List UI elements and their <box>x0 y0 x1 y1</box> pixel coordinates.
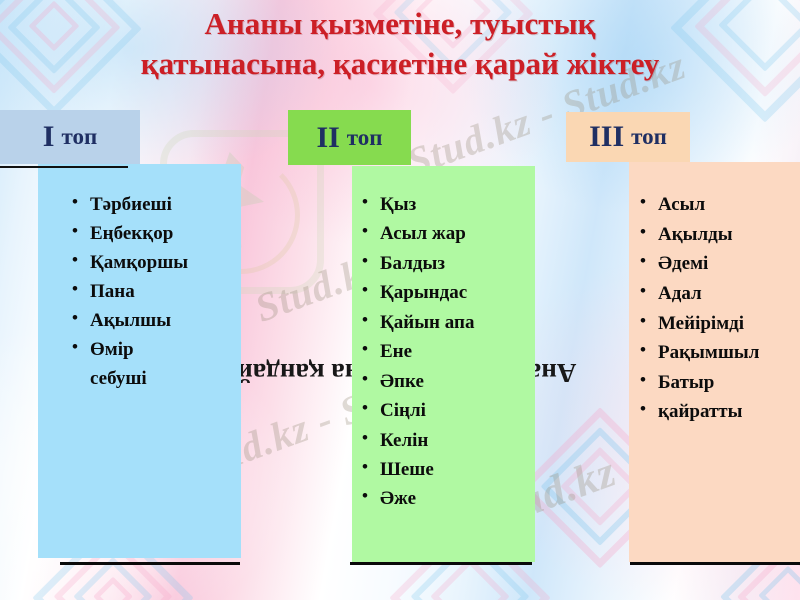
list-item: Шеше <box>360 455 474 484</box>
column-3-header-number: III <box>589 120 624 154</box>
list-item: қайратты <box>638 397 759 427</box>
list-item: Рақымшыл <box>638 338 759 368</box>
list-item: Тәрбиеші <box>70 190 188 219</box>
list-item: Қамқоршы <box>70 248 188 277</box>
column-3-header-word: топ <box>631 124 667 150</box>
column-3-header[interactable]: III топ <box>566 112 690 162</box>
column-1-header-number: I <box>43 120 55 154</box>
column-1-header-word: топ <box>61 124 97 150</box>
column-2-list: Қыз Асыл жар Балдыз Қарындас Қайын апа Е… <box>360 190 474 514</box>
column-2-header-number: II <box>316 121 339 155</box>
list-item: Асыл <box>638 190 759 220</box>
slide-canvas: Stud.kz - Stud.kz Stud.kz - Stud.kz Stud… <box>0 0 800 600</box>
list-item: Ақылшы <box>70 306 188 335</box>
page-title: Ананы қызметіне, туыстық қатынасына, қас… <box>0 4 800 83</box>
list-item: Әже <box>360 484 474 513</box>
list-item: Өмір себуші <box>70 335 188 393</box>
column-3-bottom-rule <box>630 562 800 565</box>
column-1-bottom-rule <box>60 562 240 565</box>
list-item: Балдыз <box>360 249 474 278</box>
list-item: Еңбекқор <box>70 219 188 248</box>
list-item: Сіңлі <box>360 396 474 425</box>
list-item: Қайын апа <box>360 308 474 337</box>
column-1-list: Тәрбиеші Еңбекқор Қамқоршы Пана Ақылшы Ө… <box>70 190 188 393</box>
column-2-header-word: топ <box>347 125 383 151</box>
list-item: Әпке <box>360 367 474 396</box>
title-line-2: қатынасына, қасиетіне қарай жіктеу <box>0 44 800 84</box>
list-item: Пана <box>70 277 188 306</box>
list-item: Келін <box>360 426 474 455</box>
column-3-list: Асыл Ақылды Әдемі Адал Мейірімді Рақымшы… <box>638 190 759 427</box>
list-item: Ене <box>360 337 474 366</box>
list-item: Қыз <box>360 190 474 219</box>
list-item: Ақылды <box>638 220 759 250</box>
column-1-header-rule <box>0 166 128 168</box>
column-2-bottom-rule <box>350 562 532 565</box>
column-2-header[interactable]: II топ <box>288 110 411 165</box>
list-item: Асыл жар <box>360 219 474 248</box>
list-item: Батыр <box>638 368 759 398</box>
list-item: Әдемі <box>638 249 759 279</box>
list-item: Адал <box>638 279 759 309</box>
list-item: Қарындас <box>360 278 474 307</box>
list-item: Мейірімді <box>638 309 759 339</box>
column-1-header[interactable]: I топ <box>0 110 140 164</box>
title-line-1: Ананы қызметіне, туыстық <box>0 4 800 44</box>
